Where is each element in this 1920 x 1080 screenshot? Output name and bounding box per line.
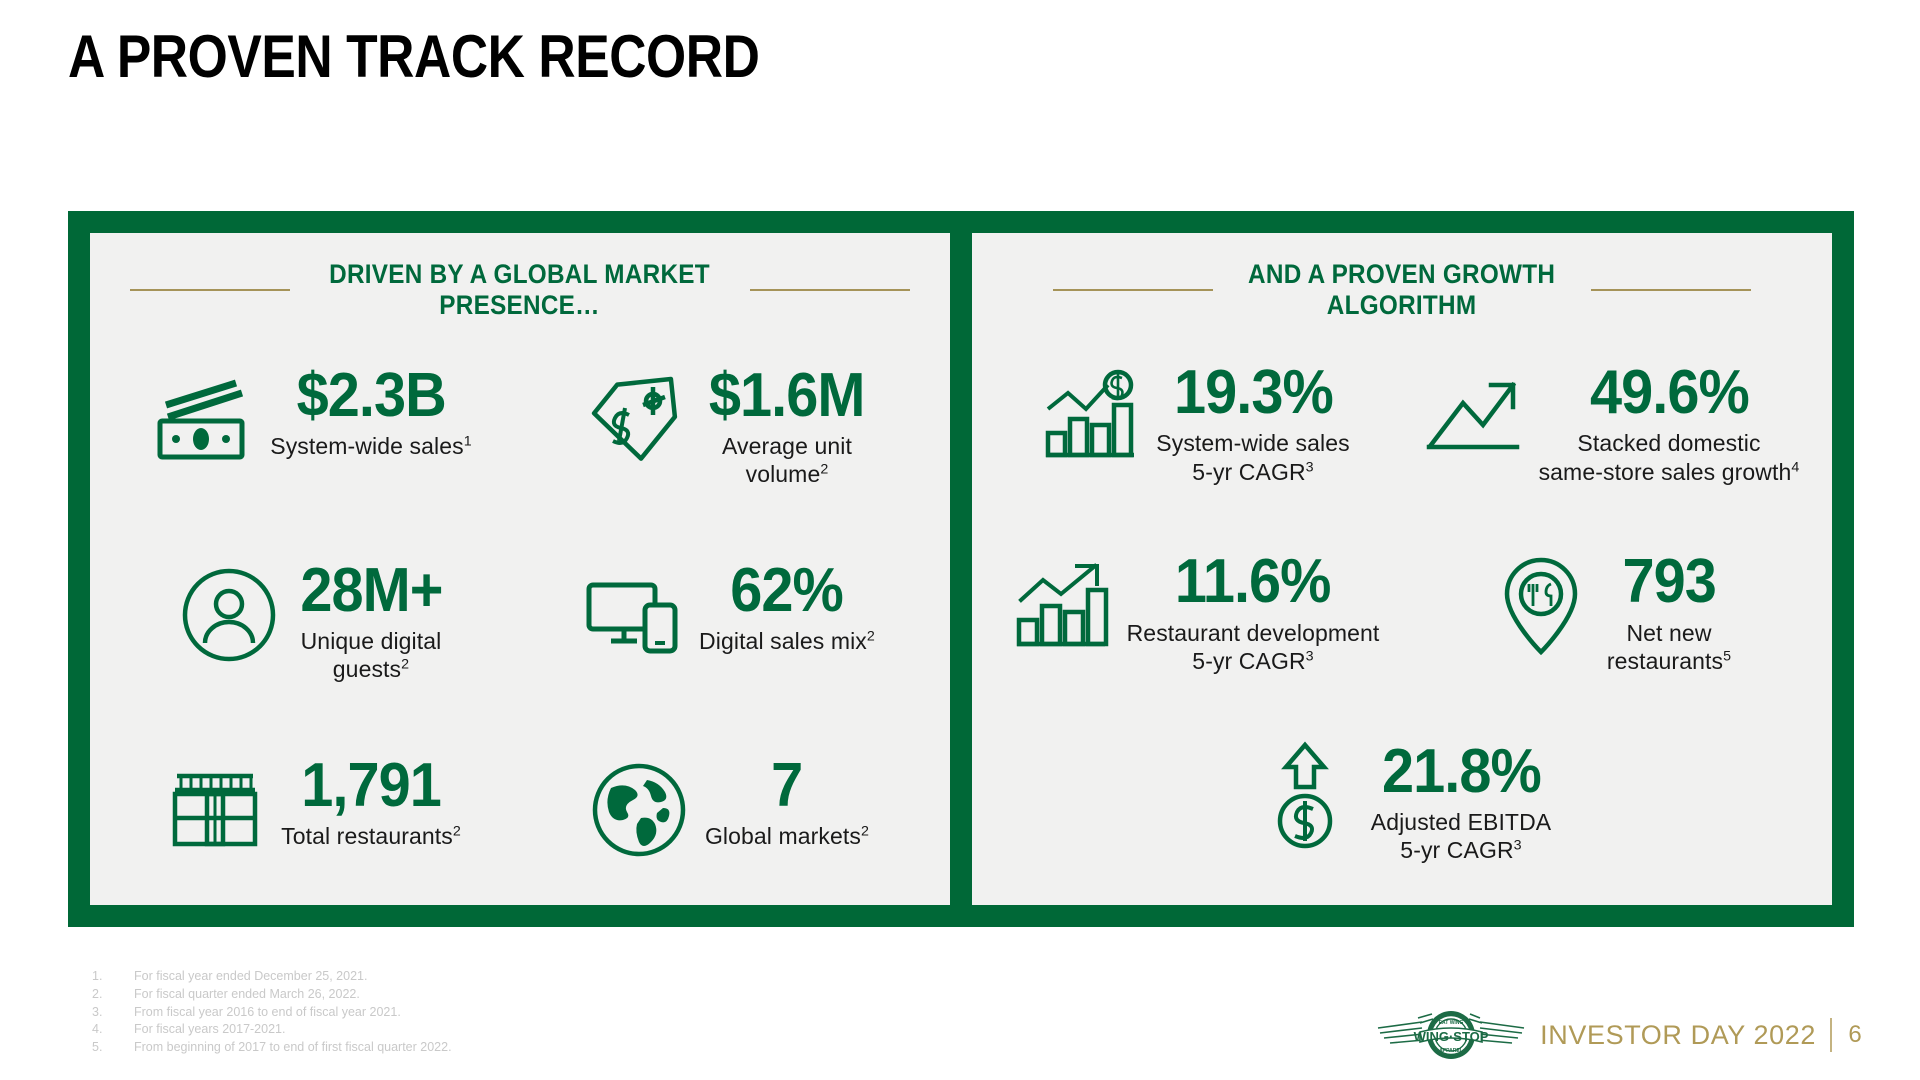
stat-text: 11.6% Restaurant development 5-yr CAGR3 [1127, 550, 1380, 675]
bar-chart-arrow-icon [1009, 554, 1113, 658]
left-panel-heading: DRIVEN BY A GLOBAL MARKET PRESENCE… [330, 259, 711, 321]
page-title: A PROVEN TRACK RECORD [68, 22, 759, 91]
header-rule-right [1591, 289, 1751, 291]
stat-label: System-wide sales 5-yr CAGR3 [1156, 429, 1349, 485]
page-number: 6 [1846, 1021, 1864, 1049]
stat-text: $2.3B System-wide sales1 [270, 364, 471, 461]
footnote-number: 3. [92, 1004, 134, 1022]
stat-average-unit-volume: $1.6M Average unit volume2 [520, 364, 936, 489]
right-stats-grid: 19.3% System-wide sales 5-yr CAGR3 [986, 331, 1818, 895]
wingstop-logo: WING·STOP EAT WING APPAREL [1376, 1004, 1526, 1066]
stat-net-new-restaurants: 793 Net new restaurants5 [1402, 550, 1818, 675]
stat-value: $1.6M [709, 364, 865, 428]
stat-total-restaurants: 1,791 Total restaurants2 [104, 754, 520, 862]
right-panel-header: AND A PROVEN GROWTH ALGORITHM [986, 259, 1818, 321]
logo-bottom-text: APPAREL [1439, 1048, 1463, 1054]
right-panel-heading: AND A PROVEN GROWTH ALGORITHM [1248, 259, 1555, 321]
footnote-number: 1. [92, 968, 134, 986]
footnote-item: 2. For fiscal quarter ended March 26, 20… [92, 986, 452, 1004]
restaurant-pin-icon [1489, 554, 1593, 658]
stat-system-wide-sales: $2.3B System-wide sales1 [104, 364, 520, 489]
stat-text: $1.6M Average unit volume2 [703, 364, 870, 489]
footnote-ref: 3 [1514, 838, 1522, 854]
footnote-ref: 3 [1306, 459, 1314, 475]
footer-event-label: INVESTOR DAY 2022 [1540, 1020, 1816, 1051]
storefront-icon [163, 758, 267, 862]
stat-text: 21.8% Adjusted EBITDA 5-yr CAGR3 [1371, 740, 1551, 865]
stat-unique-digital-guests: 28M+ Unique digital guests2 [104, 559, 520, 684]
stat-text: 19.3% System-wide sales 5-yr CAGR3 [1156, 361, 1349, 486]
logo-top-text: EAT WING [1439, 1020, 1464, 1026]
stat-label: Stacked domestic same-store sales growth… [1539, 429, 1800, 485]
stat-label: Digital sales mix2 [699, 627, 875, 655]
footnote-text: For fiscal years 2017-2021. [134, 1021, 452, 1039]
footnote-text: For fiscal quarter ended March 26, 2022. [134, 986, 452, 1004]
footnote-ref: 2 [867, 629, 875, 645]
stat-system-wide-sales-cagr: 19.3% System-wide sales 5-yr CAGR3 [986, 361, 1402, 486]
stat-value: 19.3% [1174, 361, 1333, 425]
footnote-ref: 1 [464, 434, 472, 450]
footnote-text: For fiscal year ended December 25, 2021. [134, 968, 452, 986]
stat-adjusted-ebitda-cagr: 21.8% Adjusted EBITDA 5-yr CAGR3 [986, 740, 1818, 865]
stat-value: 11.6% [1175, 550, 1331, 614]
footnote-ref: 2 [861, 824, 869, 840]
dollar-arrow-up-icon [1253, 744, 1357, 848]
footnote-ref: 2 [401, 657, 409, 673]
stat-stacked-same-store-growth: 49.6% Stacked domestic same-store sales … [1402, 361, 1818, 486]
footer-brand: WING·STOP EAT WING APPAREL INVESTOR DAY … [1376, 1004, 1864, 1066]
footnotes-list: 1. For fiscal year ended December 25, 20… [92, 968, 452, 1057]
left-stats-grid: $2.3B System-wide sales1 [104, 331, 936, 895]
footnote-ref: 3 [1306, 648, 1314, 664]
footnote-item: 3. From fiscal year 2016 to end of fisca… [92, 1004, 452, 1022]
left-panel: DRIVEN BY A GLOBAL MARKET PRESENCE… [90, 233, 950, 905]
stat-global-markets: 7 Global markets2 [520, 754, 936, 862]
stat-text: 49.6% Stacked domestic same-store sales … [1539, 361, 1800, 486]
stat-digital-sales-mix: 62% Digital sales mix2 [520, 559, 936, 684]
stat-value: 1,791 [301, 754, 441, 818]
footnote-ref: 4 [1791, 459, 1799, 475]
trend-arrow-up-icon [1421, 365, 1525, 469]
right-panel: AND A PROVEN GROWTH ALGORITHM [972, 233, 1832, 905]
footnote-number: 5. [92, 1039, 134, 1057]
stat-label: Unique digital guests2 [301, 627, 442, 683]
stat-label: Total restaurants2 [281, 822, 461, 850]
stat-text: 28M+ Unique digital guests2 [295, 559, 448, 684]
footer-divider [1830, 1018, 1832, 1052]
footnote-number: 2. [92, 986, 134, 1004]
price-tag-dollar-icon [585, 368, 689, 472]
stat-text: 1,791 Total restaurants2 [281, 754, 461, 851]
cash-bills-icon [152, 368, 256, 472]
user-circle-icon [177, 563, 281, 667]
stat-label: System-wide sales1 [270, 432, 471, 460]
footnote-item: 1. For fiscal year ended December 25, 20… [92, 968, 452, 986]
stat-label: Net new restaurants5 [1607, 619, 1731, 675]
stat-label: Adjusted EBITDA 5-yr CAGR3 [1371, 808, 1551, 864]
header-rule-left [130, 289, 290, 291]
stat-text: 7 Global markets2 [705, 754, 869, 851]
stat-value: 28M+ [300, 559, 442, 623]
stat-restaurant-development-cagr: 11.6% Restaurant development 5-yr CAGR3 [986, 550, 1402, 675]
footnote-ref: 2 [453, 824, 461, 840]
stat-value: 21.8% [1382, 740, 1541, 804]
left-panel-header: DRIVEN BY A GLOBAL MARKET PRESENCE… [104, 259, 936, 321]
stat-label: Average unit volume2 [722, 432, 852, 488]
stat-text: 793 Net new restaurants5 [1607, 550, 1731, 675]
devices-monitor-phone-icon [581, 563, 685, 667]
footnote-number: 4. [92, 1021, 134, 1039]
stat-value: $2.3B [296, 364, 445, 428]
wingstop-wordmark: WING·STOP [1414, 1029, 1489, 1044]
footnote-item: 5. From beginning of 2017 to end of firs… [92, 1039, 452, 1057]
stat-label: Global markets2 [705, 822, 869, 850]
stat-value: 62% [731, 559, 844, 623]
globe-icon [587, 758, 691, 862]
content-frame: DRIVEN BY A GLOBAL MARKET PRESENCE… [68, 211, 1854, 927]
footnote-item: 4. For fiscal years 2017-2021. [92, 1021, 452, 1039]
stat-label: Restaurant development 5-yr CAGR3 [1127, 619, 1380, 675]
stat-value: 49.6% [1590, 361, 1749, 425]
bar-chart-dollar-icon [1038, 365, 1142, 469]
footnote-ref: 2 [820, 462, 828, 478]
stat-value: 793 [1622, 550, 1715, 614]
footnote-ref: 5 [1723, 648, 1731, 664]
stat-text: 62% Digital sales mix2 [699, 559, 875, 656]
stat-value: 7 [771, 754, 802, 818]
footnote-text: From fiscal year 2016 to end of fiscal y… [134, 1004, 452, 1022]
footnote-text: From beginning of 2017 to end of first f… [134, 1039, 452, 1057]
header-rule-left [1053, 289, 1213, 291]
header-rule-right [750, 289, 910, 291]
